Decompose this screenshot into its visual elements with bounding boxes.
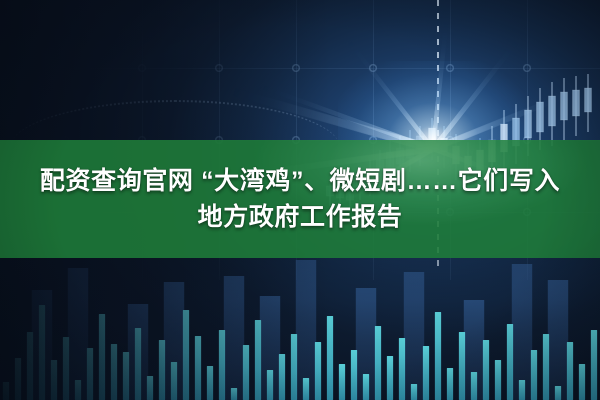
green-headline-banner: 配资查询官网 “大湾鸡”、微短剧……它们写入 地方政府工作报告 xyxy=(0,140,600,258)
headline-line-2: 地方政府工作报告 xyxy=(198,199,403,235)
banner-image: 配资查询官网 “大湾鸡”、微短剧……它们写入 地方政府工作报告 xyxy=(0,0,600,400)
headline-line-1: 配资查询官网 “大湾鸡”、微短剧……它们写入 xyxy=(40,163,560,199)
